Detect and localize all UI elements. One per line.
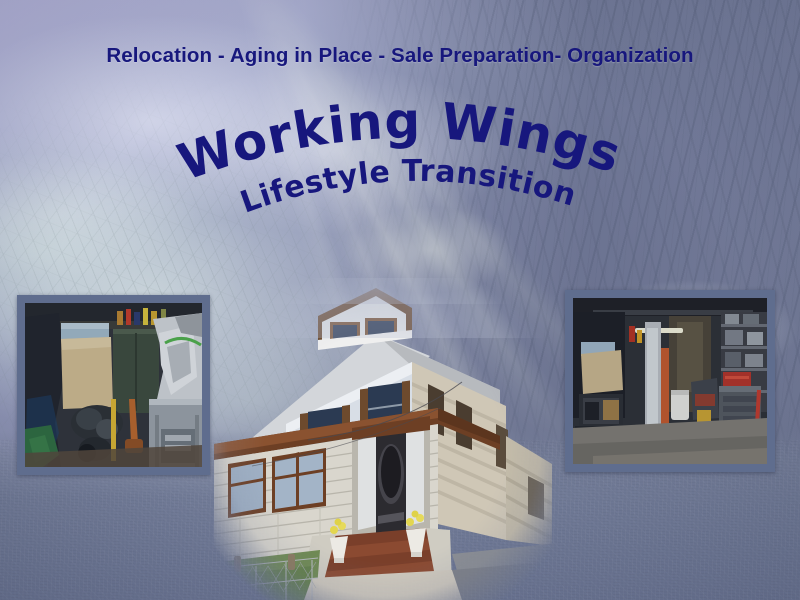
logo-subtitle: Lifestyle Transition bbox=[236, 154, 580, 221]
photo-cluttered-garage-left bbox=[17, 295, 210, 475]
photo-cluttered-workshop-right bbox=[565, 290, 775, 472]
photo-house-exterior-center bbox=[200, 278, 568, 600]
banner-image: Relocation - Aging in Place - Sale Prepa… bbox=[0, 0, 800, 600]
tagline-text: Relocation - Aging in Place - Sale Prepa… bbox=[0, 44, 800, 68]
logo-subtitle-path: Lifestyle Transition bbox=[236, 154, 580, 221]
logo: Working Wings Lifestyle Transition bbox=[165, 104, 635, 224]
